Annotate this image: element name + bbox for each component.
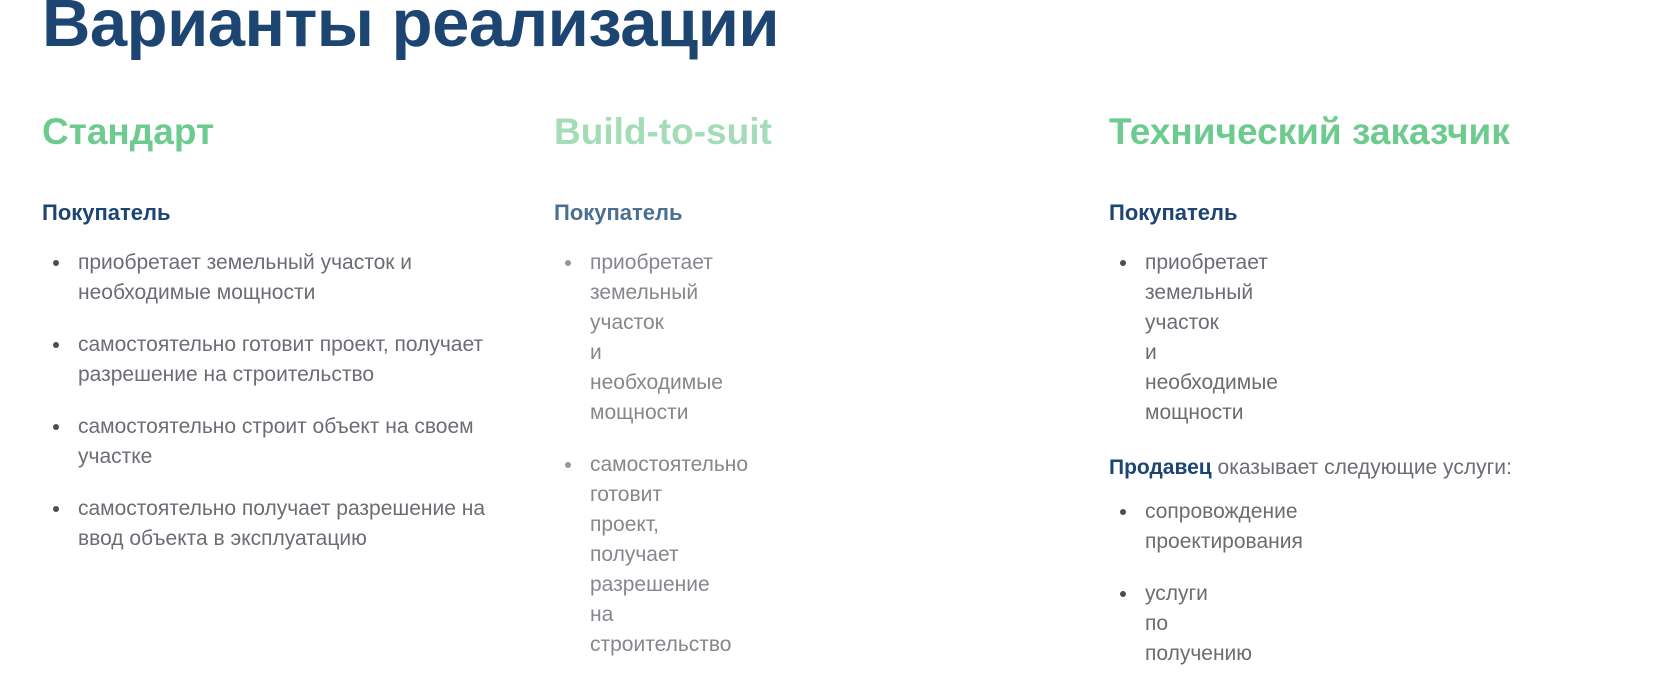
list-item: приобретает земельный участок и необходи… — [1109, 248, 1145, 428]
page-title: Варианты реализации — [42, 0, 779, 61]
list-item: самостоятельно готовит проект, получает … — [42, 330, 512, 390]
list-item: сопровождение проектирования — [1109, 497, 1145, 557]
list-item: приобретает земельный участок и необходи… — [42, 248, 512, 308]
columns-container: Стандарт Покупатель приобретает земельны… — [0, 112, 1663, 673]
slide-root: Варианты реализации Стандарт Покупатель … — [0, 0, 1663, 673]
list-item: приобретает земельный участок и необходи… — [554, 248, 590, 428]
subheading-seller-rest: оказывает следующие услуги: — [1212, 456, 1512, 479]
subheading-seller-bold: Продавец — [1109, 456, 1212, 479]
list-item: услуги по получению разрешения на строит… — [1109, 579, 1145, 673]
list-item: самостоятельно готовит проект, получает … — [554, 450, 590, 660]
list-item: самостоятельно строит объект на своем уч… — [42, 412, 512, 472]
list-item: самостоятельно получает разрешение на вв… — [42, 494, 512, 554]
